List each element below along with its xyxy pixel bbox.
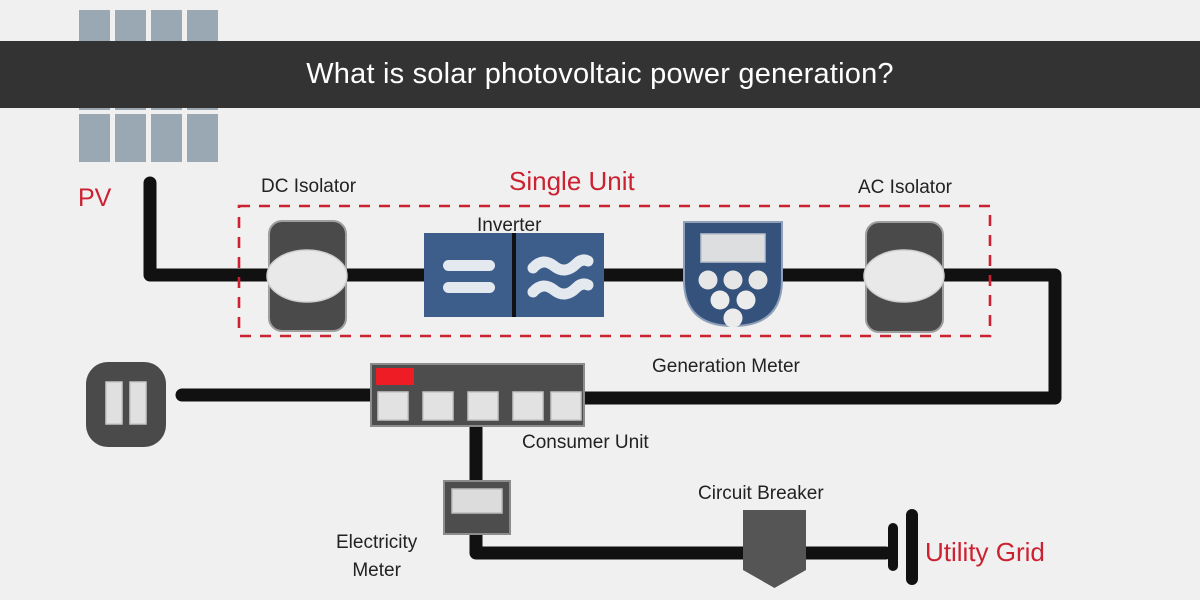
inverter[interactable]	[424, 233, 604, 317]
dc-symbol-bar-top	[443, 260, 495, 271]
grid-bar-tall	[906, 509, 918, 585]
single-unit-label: Single Unit	[509, 165, 635, 198]
pv-label: PV	[78, 183, 111, 214]
socket-prong-left	[106, 382, 122, 424]
electricity-meter-label-line2: Meter	[336, 557, 417, 585]
electricity-meter-display	[452, 489, 502, 513]
ac-isolator-label: AC Isolator	[858, 176, 952, 200]
circuit-breaker-label: Circuit Breaker	[698, 482, 824, 506]
meter-display	[701, 234, 765, 262]
socket-prong-right	[130, 382, 146, 424]
consumer-unit-label: Consumer Unit	[522, 431, 649, 455]
inverter-label: Inverter	[477, 214, 541, 238]
page-title: What is solar photovoltaic power generat…	[0, 41, 1200, 108]
generation-meter[interactable]	[684, 222, 782, 328]
electricity-meter[interactable]	[444, 481, 510, 534]
consumer-unit-indicator	[376, 368, 414, 385]
consumer-unit[interactable]	[371, 364, 584, 426]
diagram-canvas: What is solar photovoltaic power generat…	[0, 0, 1200, 600]
circuit-breaker[interactable]	[743, 510, 806, 588]
load-socket[interactable]	[86, 362, 166, 447]
utility-grid-label: Utility Grid	[925, 536, 1045, 569]
generation-meter-label: Generation Meter	[652, 355, 800, 379]
electricity-meter-label-line1: Electricity	[336, 529, 417, 557]
dc-isolator-label: DC Isolator	[261, 175, 356, 199]
dc-isolator[interactable]	[267, 221, 347, 331]
ac-isolator[interactable]	[864, 222, 944, 332]
electricity-meter-label: Electricity Meter	[336, 529, 417, 584]
utility-grid-terminal	[888, 509, 918, 585]
grid-bar-short	[888, 523, 898, 571]
dc-symbol-bar-bottom	[443, 282, 495, 293]
